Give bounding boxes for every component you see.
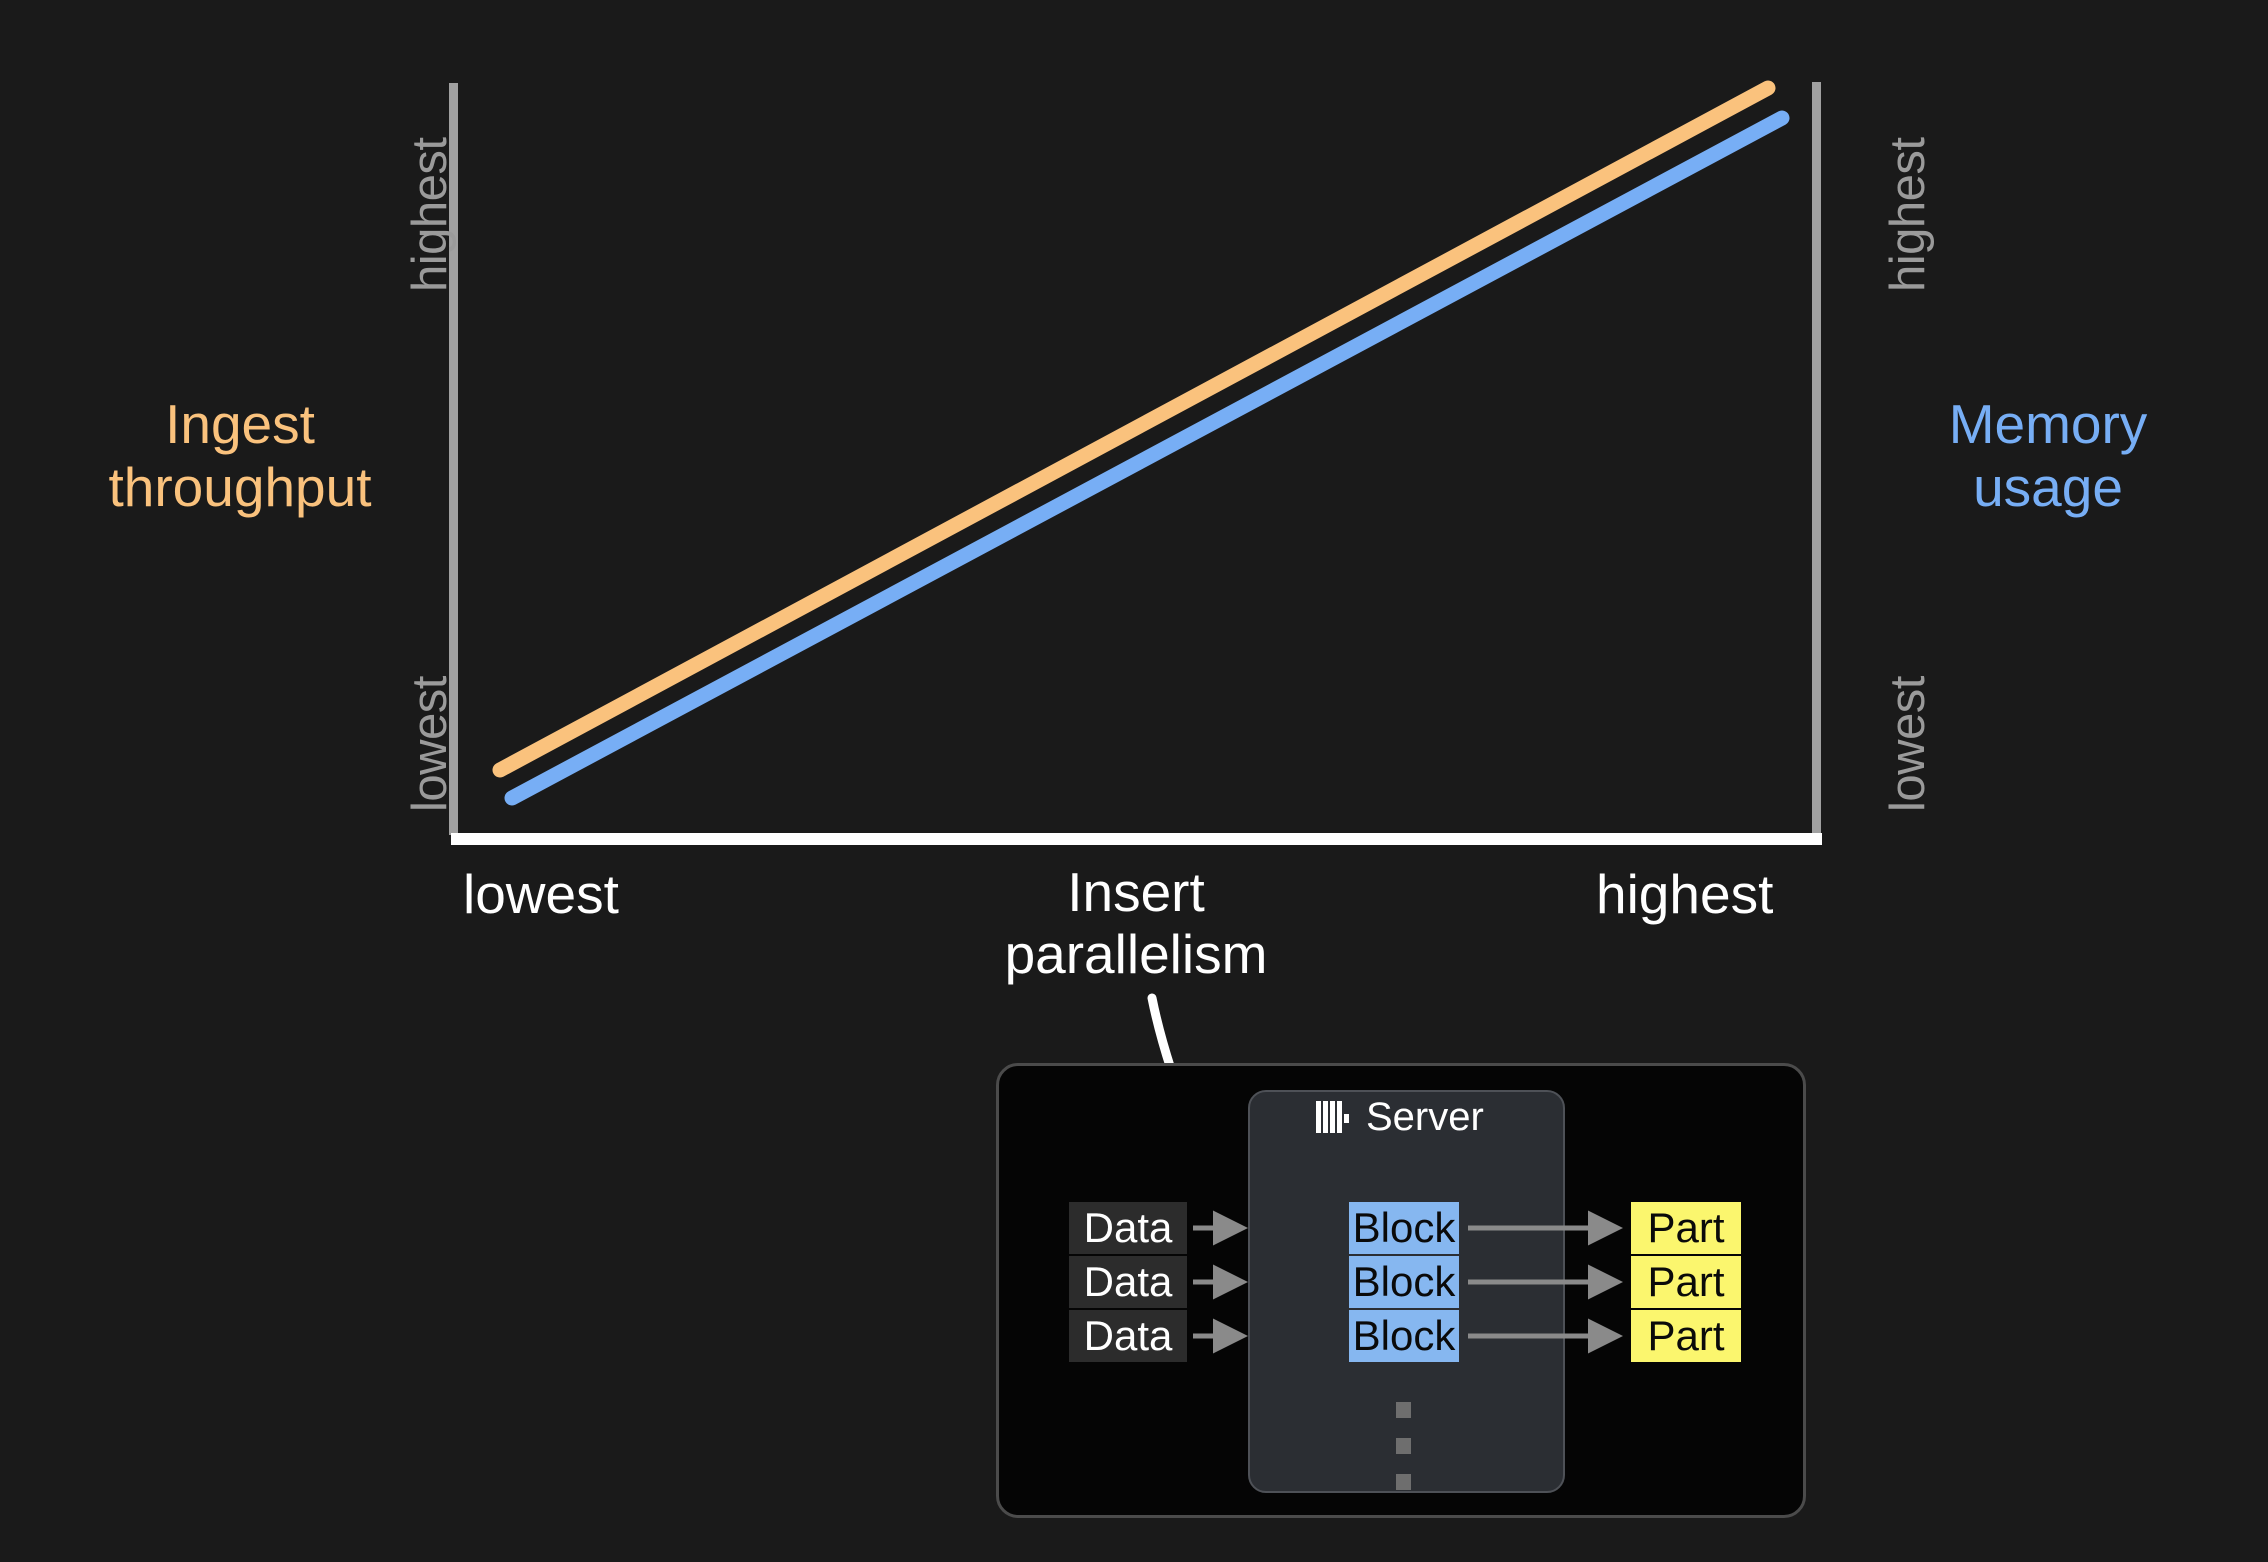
ellipsis-dot [1396, 1474, 1411, 1490]
y-axis-left-tick-lowest: lowest [402, 676, 458, 812]
ellipsis-dot [1396, 1438, 1411, 1454]
block-node-1: Block [1349, 1202, 1459, 1254]
y-axis-left-title: Ingest throughput [80, 393, 400, 518]
y-axis-right-title: Memory usage [1848, 393, 2248, 518]
block-node-2: Block [1349, 1256, 1459, 1308]
y-axis-left-tick-highest: highest [402, 137, 458, 292]
slide-root: highest lowest Ingest throughput highest… [0, 0, 2268, 1562]
part-node-1: Part [1631, 1202, 1741, 1254]
series-line-ingest-throughput [500, 88, 1768, 770]
data-node-3: Data [1069, 1310, 1187, 1362]
data-node-2: Data [1069, 1256, 1187, 1308]
x-axis-tick-lowest: lowest [463, 862, 619, 926]
y-axis-right-tick-highest: highest [1880, 137, 1936, 292]
series-line-memory-usage [512, 118, 1782, 798]
y-axis-right-tick-lowest: lowest [1880, 676, 1936, 812]
part-node-2: Part [1631, 1256, 1741, 1308]
block-node-3: Block [1349, 1310, 1459, 1362]
chart-panel: highest lowest Ingest throughput highest… [0, 0, 2268, 1010]
data-node-1: Data [1069, 1202, 1187, 1254]
part-node-3: Part [1631, 1310, 1741, 1362]
ellipsis-dot [1396, 1402, 1411, 1418]
x-axis-tick-highest: highest [1596, 862, 1773, 926]
x-axis-title: Insert parallelism [936, 862, 1336, 985]
vertical-ellipsis-icon [1392, 1402, 1414, 1490]
